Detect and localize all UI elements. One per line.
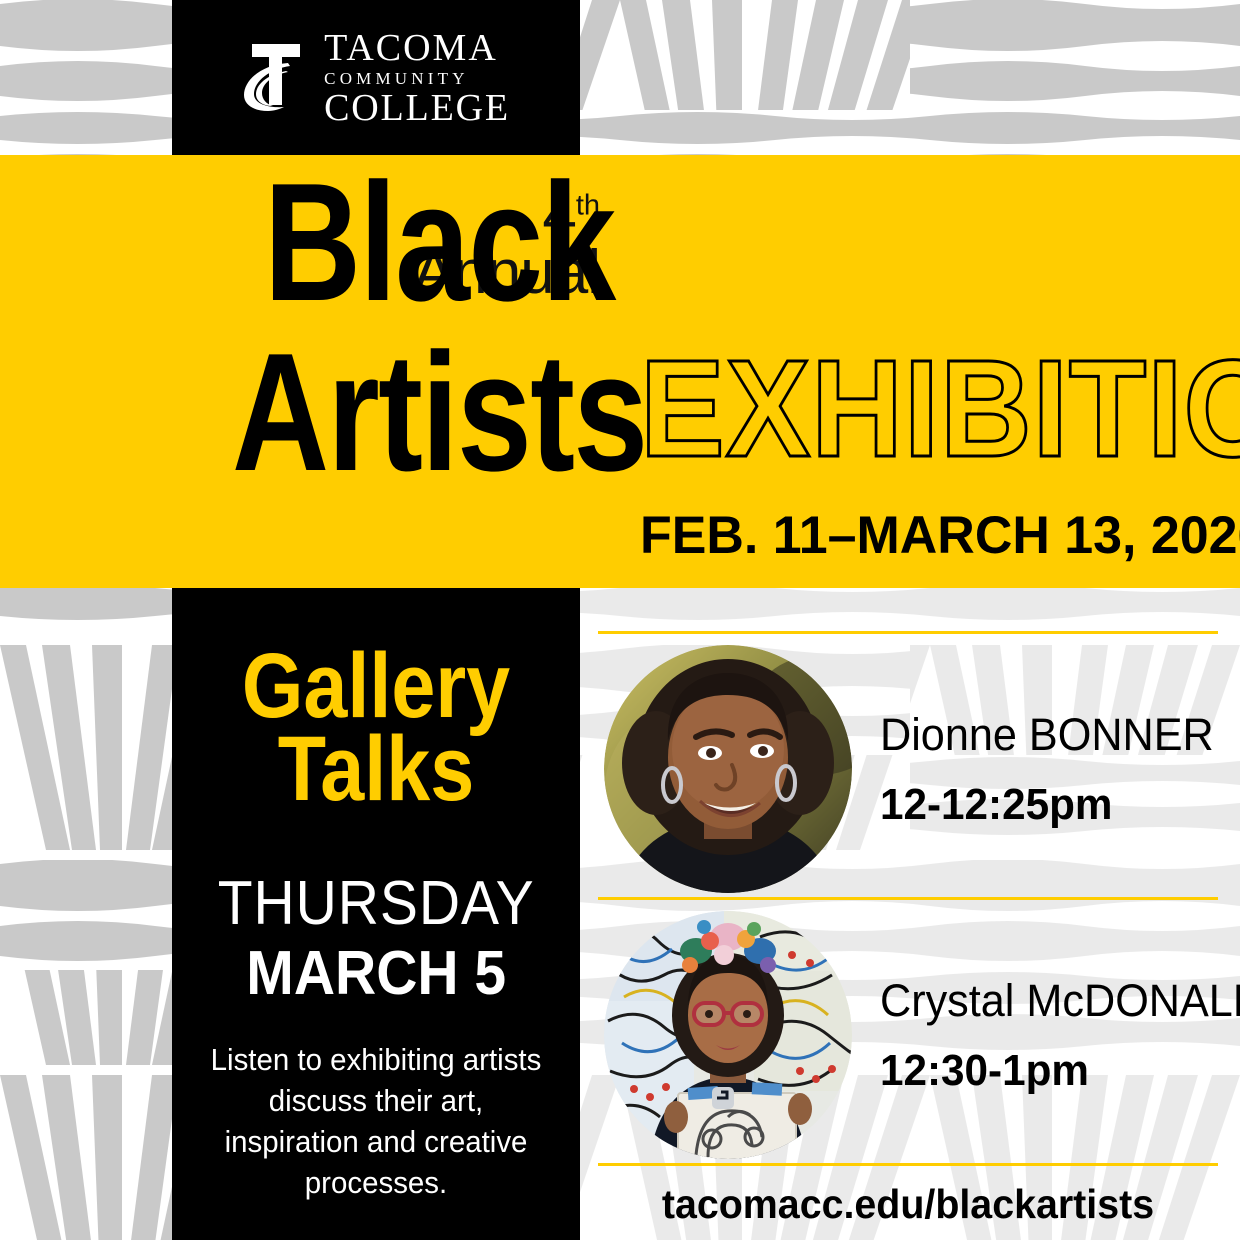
exhibition-outline-word: EXHIBITION — [640, 340, 1240, 478]
gallery-talks-block: Gallery Talks THURSDAY MARCH 5 Listen to… — [172, 600, 580, 1240]
gallery-talks-title-line1: Gallery — [242, 645, 510, 728]
logo-line-community: COMMUNITY — [324, 70, 469, 87]
speaker-2-time: 12:30-1pm — [880, 1049, 1240, 1093]
dionne-bonner-portrait — [604, 645, 852, 893]
divider-rule-top — [598, 631, 1218, 634]
tcc-t-swoosh-icon — [242, 41, 310, 115]
logo-line-college: COLLEGE — [324, 89, 510, 127]
speaker-2-name: Crystal McDONALD — [880, 978, 1240, 1023]
logo-line-tacoma: TACOMA — [324, 29, 498, 67]
headline-block: 4th Annual Black Artists EXHIBITION FEB.… — [0, 155, 1240, 588]
speaker-1-name: Dionne BONNER — [880, 712, 1214, 757]
speaker-1-time: 12-12:25pm — [880, 783, 1214, 827]
gallery-talks-date: MARCH 5 — [246, 943, 506, 1005]
gallery-talks-day: THURSDAY — [218, 873, 535, 935]
speaker-1-text: Dionne BONNER 12-12:25pm — [880, 712, 1228, 827]
gallery-talks-title: Gallery Talks — [242, 645, 510, 811]
crystal-mcdonald-portrait — [604, 911, 852, 1159]
speaker-2-text: Crystal McDONALD 12:30-1pm — [880, 978, 1240, 1093]
poster-canvas: TACOMA COMMUNITY COLLEGE 4th Annual Blac… — [0, 0, 1240, 1240]
gallery-talks-title-line2: Talks — [242, 728, 510, 811]
speaker-row-dionne-bonner: Dionne BONNER 12-12:25pm — [604, 645, 1228, 893]
exhibition-dates: FEB. 11–MARCH 13, 2026 — [640, 505, 1240, 566]
speaker-row-crystal-mcdonald: Crystal McDONALD 12:30-1pm — [604, 911, 1240, 1159]
title-line-artists: Artists — [232, 335, 647, 490]
logo-wordmark: TACOMA COMMUNITY COLLEGE — [324, 29, 510, 127]
tacoma-community-college-logo: TACOMA COMMUNITY COLLEGE — [172, 0, 580, 155]
footer-url[interactable]: tacomacc.edu/blackartists — [610, 1181, 1205, 1228]
gallery-talks-description: Listen to exhibiting artists discuss the… — [210, 1039, 543, 1204]
divider-rule-bottom — [598, 1163, 1218, 1166]
title-line-black: Black — [264, 165, 615, 320]
divider-rule-middle — [598, 897, 1218, 900]
